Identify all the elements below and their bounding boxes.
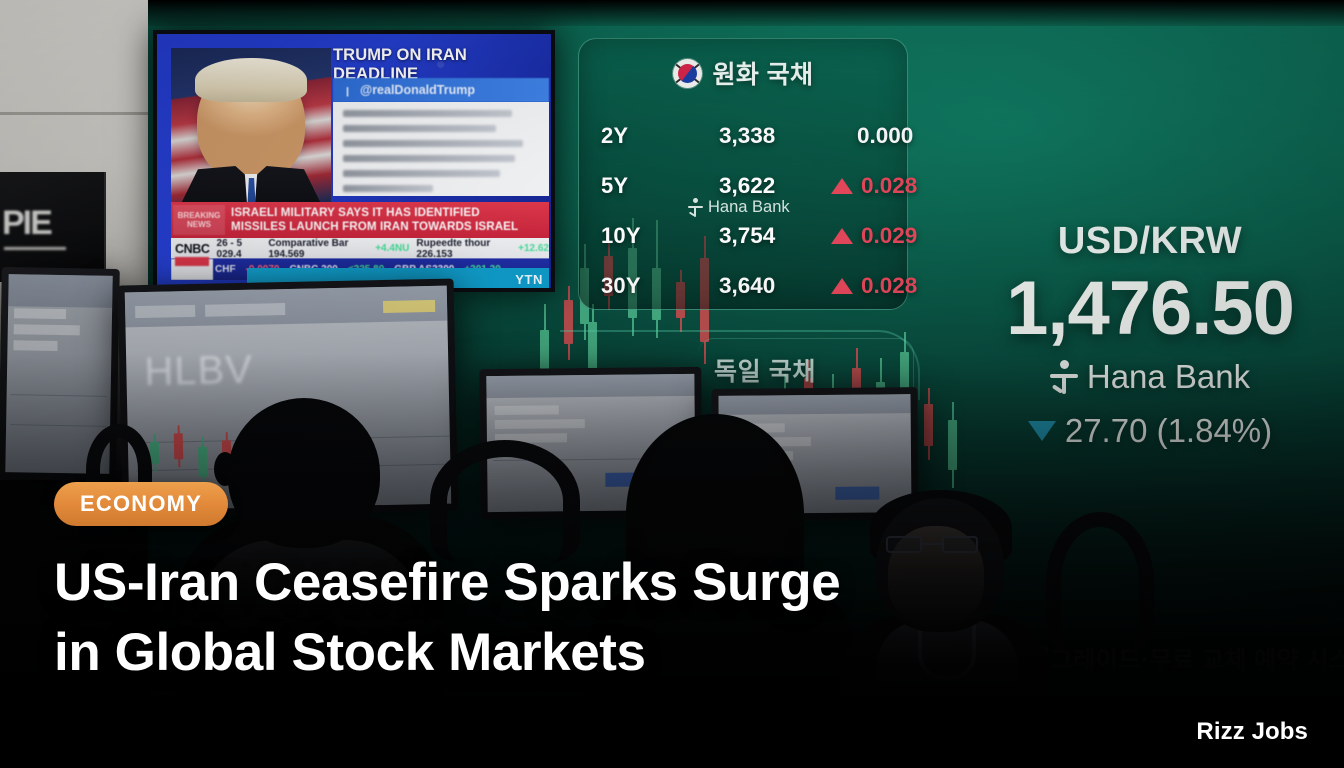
ticker-item: +4.4NU xyxy=(375,243,409,254)
bond-change: 0.028 xyxy=(831,173,931,199)
portrait-hair xyxy=(195,58,307,102)
breaking-tag: BREAKING NEWS xyxy=(173,205,225,235)
triangle-up-icon xyxy=(831,278,853,294)
usd-krw-panel: USD/KRW 1,476.50 Hana Bank 27.70 (1.84%) xyxy=(1000,220,1300,450)
social-handle-text: @realDonaldTrump xyxy=(360,83,475,97)
bond-change: 0.000 xyxy=(831,123,931,149)
ticker-brand: CNBC xyxy=(175,242,210,256)
tv-broadcast-screen: TRUMP ON IRAN DEADLINE @realDonaldTrump … xyxy=(153,30,555,292)
bond-yield: 3,754 xyxy=(719,223,831,249)
bond-change-value: 0.028 xyxy=(861,273,917,299)
page-title: US-Iran Ceasefire Sparks Surge in Global… xyxy=(54,548,914,688)
hana-bank-logo-icon xyxy=(1050,360,1078,394)
breaking-line-1: ISRAELI MILITARY SAYS IT HAS IDENTIFIED xyxy=(231,206,518,220)
broadcast-corner-badge xyxy=(175,257,209,266)
ticker-item: Comparative Bar 194.569 xyxy=(268,238,368,260)
bond-term: 5Y xyxy=(601,173,719,199)
triangle-up-icon xyxy=(831,178,853,194)
table-row: 2Y 3,338 0.000 xyxy=(579,111,907,161)
fx-pair-label: USD/KRW xyxy=(1000,220,1300,263)
ticker-item: 26 - 5 029.4 xyxy=(217,238,262,260)
table-row: 10Y 3,754 0.029 xyxy=(579,211,907,261)
broadcast-tweet-body xyxy=(333,102,549,196)
bond-change: 0.028 xyxy=(831,273,931,299)
fx-brand-row: Hana Bank xyxy=(1000,358,1300,396)
bond-change-value: 0.000 xyxy=(857,123,913,149)
monitor-blurred-label: HLBV xyxy=(144,348,253,395)
bottom-letterbox-bar xyxy=(0,696,1344,768)
table-row: 30Y 3,640 0.028 xyxy=(579,261,907,311)
news-image-canvas: PIE xyxy=(0,0,1344,768)
breaking-line-2: MISSILES LAUNCH FROM IRAN TOWARDS ISRAEL xyxy=(231,220,518,234)
hana-bank-watermark: Hana Bank xyxy=(688,198,790,217)
broadcast-social-handle: @realDonaldTrump xyxy=(333,78,549,102)
de-bond-title: 독일 국채 xyxy=(714,352,816,388)
fx-change-value: 27.70 (1.84%) xyxy=(1065,412,1272,450)
south-korea-flag-icon xyxy=(673,59,702,88)
bond-change-value: 0.028 xyxy=(861,173,917,199)
person-left-head xyxy=(228,398,380,548)
twitter-bird-icon xyxy=(341,84,354,97)
breaking-news-banner: BREAKING NEWS ISRAELI MILITARY SAYS IT H… xyxy=(171,202,549,238)
triangle-up-icon xyxy=(831,228,853,244)
chair-headrest-center xyxy=(430,440,580,562)
krw-bond-title-row: 원화 국채 xyxy=(579,55,907,91)
bond-change: 0.029 xyxy=(831,223,931,249)
bond-change-value: 0.029 xyxy=(861,223,917,249)
ticker-item: +12.62 xyxy=(518,243,549,254)
krw-bond-panel: 원화 국채 2Y 3,338 0.000 5Y 3,622 0.028 10Y xyxy=(578,38,908,310)
krw-bond-title: 원화 국채 xyxy=(713,55,814,91)
category-badge: ECONOMY xyxy=(54,482,228,526)
bond-term: 2Y xyxy=(601,123,719,149)
bond-term: 10Y xyxy=(601,223,719,249)
headline-line-2: in Global Stock Markets xyxy=(54,618,914,688)
bond-yield: 3,640 xyxy=(719,273,831,299)
person-left-ear xyxy=(214,452,236,486)
publisher-credit: Rizz Jobs xyxy=(1196,718,1308,746)
hana-bank-logo-icon xyxy=(688,198,703,217)
bond-yield: 3,622 xyxy=(719,173,831,199)
ticker-item: Rupeedte thour 226.153 xyxy=(416,238,511,260)
headline-line-1: US-Iran Ceasefire Sparks Surge xyxy=(54,548,914,618)
fx-rate-value: 1,476.50 xyxy=(1000,265,1300,352)
bond-yield: 3,338 xyxy=(719,123,831,149)
broadcast-headline: TRUMP ON IRAN DEADLINE xyxy=(333,52,549,78)
triangle-down-icon xyxy=(1028,421,1056,441)
ticker-label: CHF xyxy=(215,264,236,275)
trump-portrait-photo xyxy=(171,48,331,220)
chair-headrest-right xyxy=(1046,512,1154,652)
hana-bank-watermark-text: Hana Bank xyxy=(708,198,790,217)
fx-change-row: 27.70 (1.84%) xyxy=(1000,412,1300,450)
ytn-channel-logo: YTN xyxy=(515,272,543,287)
fx-brand-name: Hana Bank xyxy=(1087,358,1250,396)
breaking-text: ISRAELI MILITARY SAYS IT HAS IDENTIFIED … xyxy=(231,206,518,234)
bond-term: 30Y xyxy=(601,273,719,299)
